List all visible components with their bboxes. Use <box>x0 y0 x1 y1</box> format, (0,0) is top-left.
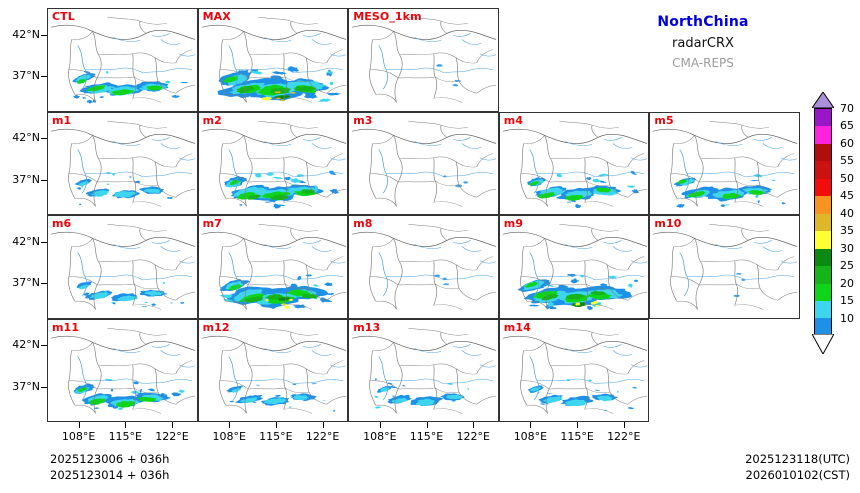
panel-title-m2: m2 <box>203 114 222 127</box>
y-tick-mark <box>41 35 47 36</box>
panel-title-m4: m4 <box>504 114 523 127</box>
x-tick-mark <box>276 422 277 428</box>
y-tick-label: 42°N <box>0 28 40 41</box>
colorbar-swatch-25 <box>815 266 831 283</box>
y-tick-label: 42°N <box>0 131 40 144</box>
colorbar-under-arrow <box>812 334 834 354</box>
y-tick-mark <box>41 387 47 388</box>
y-tick-label: 37°N <box>0 173 40 186</box>
x-tick-mark <box>577 422 578 428</box>
panel-title-m3: m3 <box>353 114 372 127</box>
x-tick-label: 115°E <box>551 430 603 443</box>
x-tick-mark <box>624 422 625 428</box>
panel-title-meso_1km: MESO_1km <box>353 10 421 23</box>
panel-title-m8: m8 <box>353 217 372 230</box>
panel-title-m9: m9 <box>504 217 523 230</box>
colorbar-swatch-50 <box>815 179 831 196</box>
footer-right: 2025123118(UTC) 2026010102(CST) <box>745 452 850 483</box>
colorbar-tick-60: 60 <box>840 138 854 149</box>
colorbar-tick-25: 25 <box>840 260 854 271</box>
panel-title-m13: m13 <box>353 321 380 334</box>
colorbar: 10152025303540455055606570 <box>812 92 836 354</box>
x-tick-label: 122°E <box>598 430 650 443</box>
x-tick-label: 108°E <box>53 430 105 443</box>
panel-title-m7: m7 <box>203 217 222 230</box>
y-tick-mark <box>41 283 47 284</box>
y-tick-label: 37°N <box>0 380 40 393</box>
y-tick-mark <box>41 242 47 243</box>
colorbar-swatch-55 <box>815 161 831 178</box>
x-tick-mark <box>79 422 80 428</box>
colorbar-over-arrow-outline <box>812 92 834 108</box>
x-tick-label: 115°E <box>401 430 453 443</box>
colorbar-swatch-20 <box>815 284 831 301</box>
x-tick-mark <box>172 422 173 428</box>
colorbar-tick-30: 30 <box>840 243 854 254</box>
colorbar-tick-40: 40 <box>840 208 854 219</box>
y-tick-label: 42°N <box>0 338 40 351</box>
x-tick-mark <box>229 422 230 428</box>
colorbar-swatch-35 <box>815 231 831 248</box>
x-tick-label: 122°E <box>146 430 198 443</box>
colorbar-tick-50: 50 <box>840 173 854 184</box>
panel-m5: m5 <box>649 112 800 216</box>
colorbar-tick-20: 20 <box>840 278 854 289</box>
footer-left: 2025123006 + 036h 2025123014 + 036h <box>50 452 169 483</box>
panel-title-m10: m10 <box>654 217 681 230</box>
colorbar-body <box>814 108 832 335</box>
y-tick-mark <box>41 76 47 77</box>
panel-m10: m10 <box>649 215 800 319</box>
x-tick-mark <box>323 422 324 428</box>
colorbar-tick-55: 55 <box>840 155 854 166</box>
x-tick-label: 115°E <box>250 430 302 443</box>
colorbar-swatch-70 <box>815 109 831 126</box>
y-tick-label: 37°N <box>0 276 40 289</box>
panel-m4: m4 <box>499 112 650 216</box>
colorbar-swatch-40 <box>815 214 831 231</box>
panel-title-m6: m6 <box>52 217 71 230</box>
panel-m1: m1 <box>47 112 198 216</box>
panel-title-m1: m1 <box>52 114 71 127</box>
panel-m11: m11 <box>47 319 198 423</box>
footer-right-line2: 2026010102(CST) <box>745 468 850 484</box>
panel-title-m12: m12 <box>203 321 230 334</box>
y-tick-label: 42°N <box>0 235 40 248</box>
x-tick-mark <box>125 422 126 428</box>
y-tick-mark <box>41 180 47 181</box>
panel-ctl: CTL <box>47 8 198 112</box>
panel-title-m14: m14 <box>504 321 531 334</box>
colorbar-swatch-65 <box>815 126 831 143</box>
y-tick-label: 37°N <box>0 69 40 82</box>
colorbar-tick-10: 10 <box>840 313 854 324</box>
panel-m6: m6 <box>47 215 198 319</box>
footer-left-line2: 2025123014 + 036h <box>50 468 169 484</box>
colorbar-swatch-60 <box>815 144 831 161</box>
colorbar-tick-15: 15 <box>840 295 854 306</box>
footer-left-line1: 2025123006 + 036h <box>50 452 169 468</box>
panel-m9: m9 <box>499 215 650 319</box>
panel-title-max: MAX <box>203 10 231 23</box>
x-tick-mark <box>380 422 381 428</box>
header-subtitle: radarCRX <box>588 36 818 51</box>
x-tick-mark <box>427 422 428 428</box>
header-block: NorthChina radarCRX CMA-REPS <box>588 14 818 70</box>
x-tick-label: 122°E <box>447 430 499 443</box>
panel-meso_1km: MESO_1km <box>348 8 499 112</box>
x-tick-label: 108°E <box>504 430 556 443</box>
panel-grid: CTLMAXMESO_1kmm1m2m3m4m5m6m7m8m9m10m11m1… <box>47 8 800 422</box>
x-tick-label: 108°E <box>203 430 255 443</box>
panel-m14: m14 <box>499 319 650 423</box>
colorbar-tick-70: 70 <box>840 103 854 114</box>
x-tick-mark <box>473 422 474 428</box>
panel-m3: m3 <box>348 112 499 216</box>
footer-right-line1: 2025123118(UTC) <box>745 452 850 468</box>
colorbar-tick-35: 35 <box>840 225 854 236</box>
panel-title-m5: m5 <box>654 114 673 127</box>
x-tick-label: 122°E <box>297 430 349 443</box>
colorbar-tick-65: 65 <box>840 120 854 131</box>
panel-m2: m2 <box>198 112 349 216</box>
x-tick-label: 108°E <box>354 430 406 443</box>
x-tick-label: 115°E <box>99 430 151 443</box>
colorbar-swatch-45 <box>815 196 831 213</box>
y-tick-mark <box>41 138 47 139</box>
panel-max: MAX <box>198 8 349 112</box>
colorbar-tick-45: 45 <box>840 190 854 201</box>
panel-m12: m12 <box>198 319 349 423</box>
panel-m8: m8 <box>348 215 499 319</box>
panel-title-m11: m11 <box>52 321 79 334</box>
header-source: CMA-REPS <box>588 56 818 70</box>
colorbar-swatch-30 <box>815 249 831 266</box>
y-tick-mark <box>41 345 47 346</box>
panel-title-ctl: CTL <box>52 10 75 23</box>
panel-m13: m13 <box>348 319 499 423</box>
x-tick-mark <box>530 422 531 428</box>
panel-m7: m7 <box>198 215 349 319</box>
colorbar-swatch-15 <box>815 301 831 318</box>
page-title: NorthChina <box>588 14 818 30</box>
